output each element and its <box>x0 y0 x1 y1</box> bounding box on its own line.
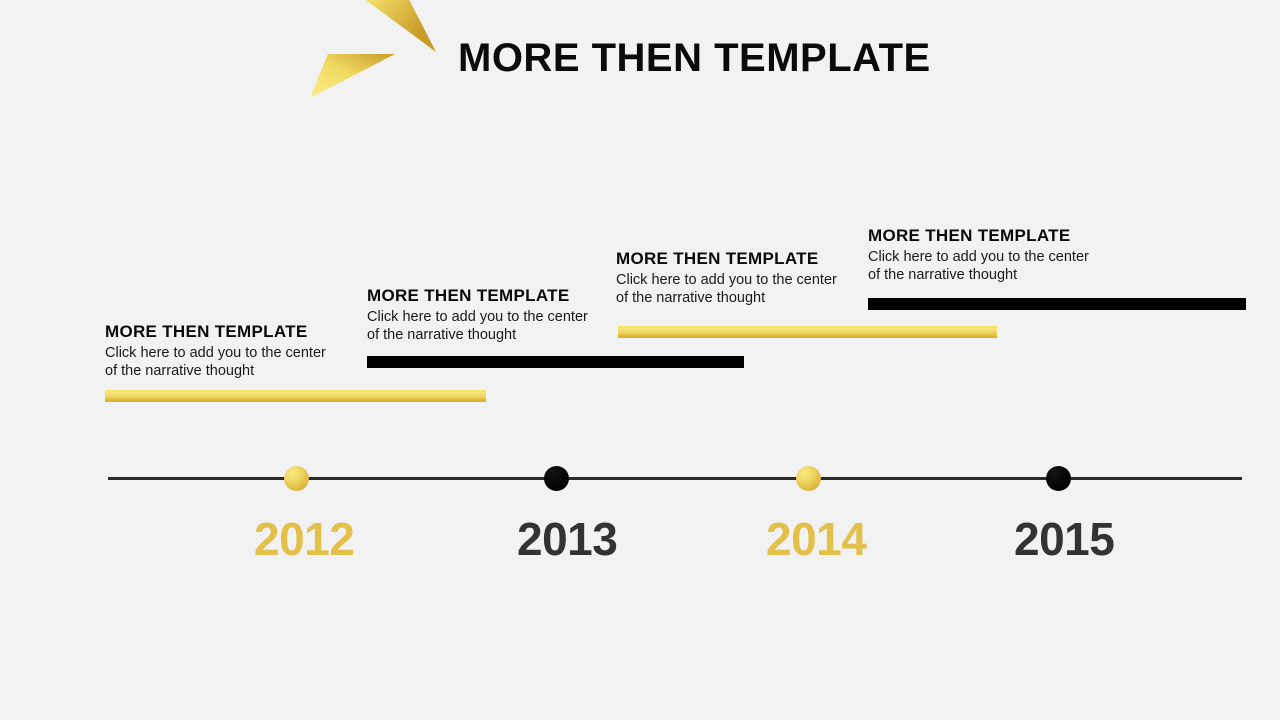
milestone-title: MORE THEN TEMPLATE <box>616 249 878 269</box>
timeline-year-2014: 2014 <box>766 512 866 566</box>
milestone-bar-2013 <box>367 356 744 368</box>
milestone-block-2012[interactable]: MORE THEN TEMPLATE Click here to add you… <box>105 322 367 380</box>
milestone-bar-2015 <box>868 298 1246 310</box>
timeline-dot-2014[interactable] <box>796 466 821 491</box>
milestone-body: Click here to add you to the center of t… <box>105 344 367 380</box>
slide-canvas: MORE THEN TEMPLATE MORE THEN TEMPLATE Cl… <box>0 0 1280 720</box>
timeline-year-2015: 2015 <box>1014 512 1114 566</box>
milestone-bar-2014 <box>618 326 997 338</box>
timeline-year-2013: 2013 <box>517 512 617 566</box>
milestone-block-2013[interactable]: MORE THEN TEMPLATE Click here to add you… <box>367 286 629 344</box>
milestone-title: MORE THEN TEMPLATE <box>105 322 367 342</box>
double-arrow-chevron-icon <box>300 0 450 104</box>
timeline-dot-2013[interactable] <box>544 466 569 491</box>
milestone-body: Click here to add you to the center of t… <box>868 248 1130 284</box>
page-title: MORE THEN TEMPLATE <box>458 36 931 81</box>
timeline-dot-2012[interactable] <box>284 466 309 491</box>
milestone-bar-2012 <box>105 390 486 402</box>
timeline-year-2012: 2012 <box>254 512 354 566</box>
milestone-block-2014[interactable]: MORE THEN TEMPLATE Click here to add you… <box>616 249 878 307</box>
timeline-axis <box>108 477 1242 480</box>
milestone-body: Click here to add you to the center of t… <box>367 308 629 344</box>
timeline-dot-2015[interactable] <box>1046 466 1071 491</box>
milestone-title: MORE THEN TEMPLATE <box>868 226 1130 246</box>
milestone-body: Click here to add you to the center of t… <box>616 271 878 307</box>
milestone-title: MORE THEN TEMPLATE <box>367 286 629 306</box>
milestone-block-2015[interactable]: MORE THEN TEMPLATE Click here to add you… <box>868 226 1130 284</box>
